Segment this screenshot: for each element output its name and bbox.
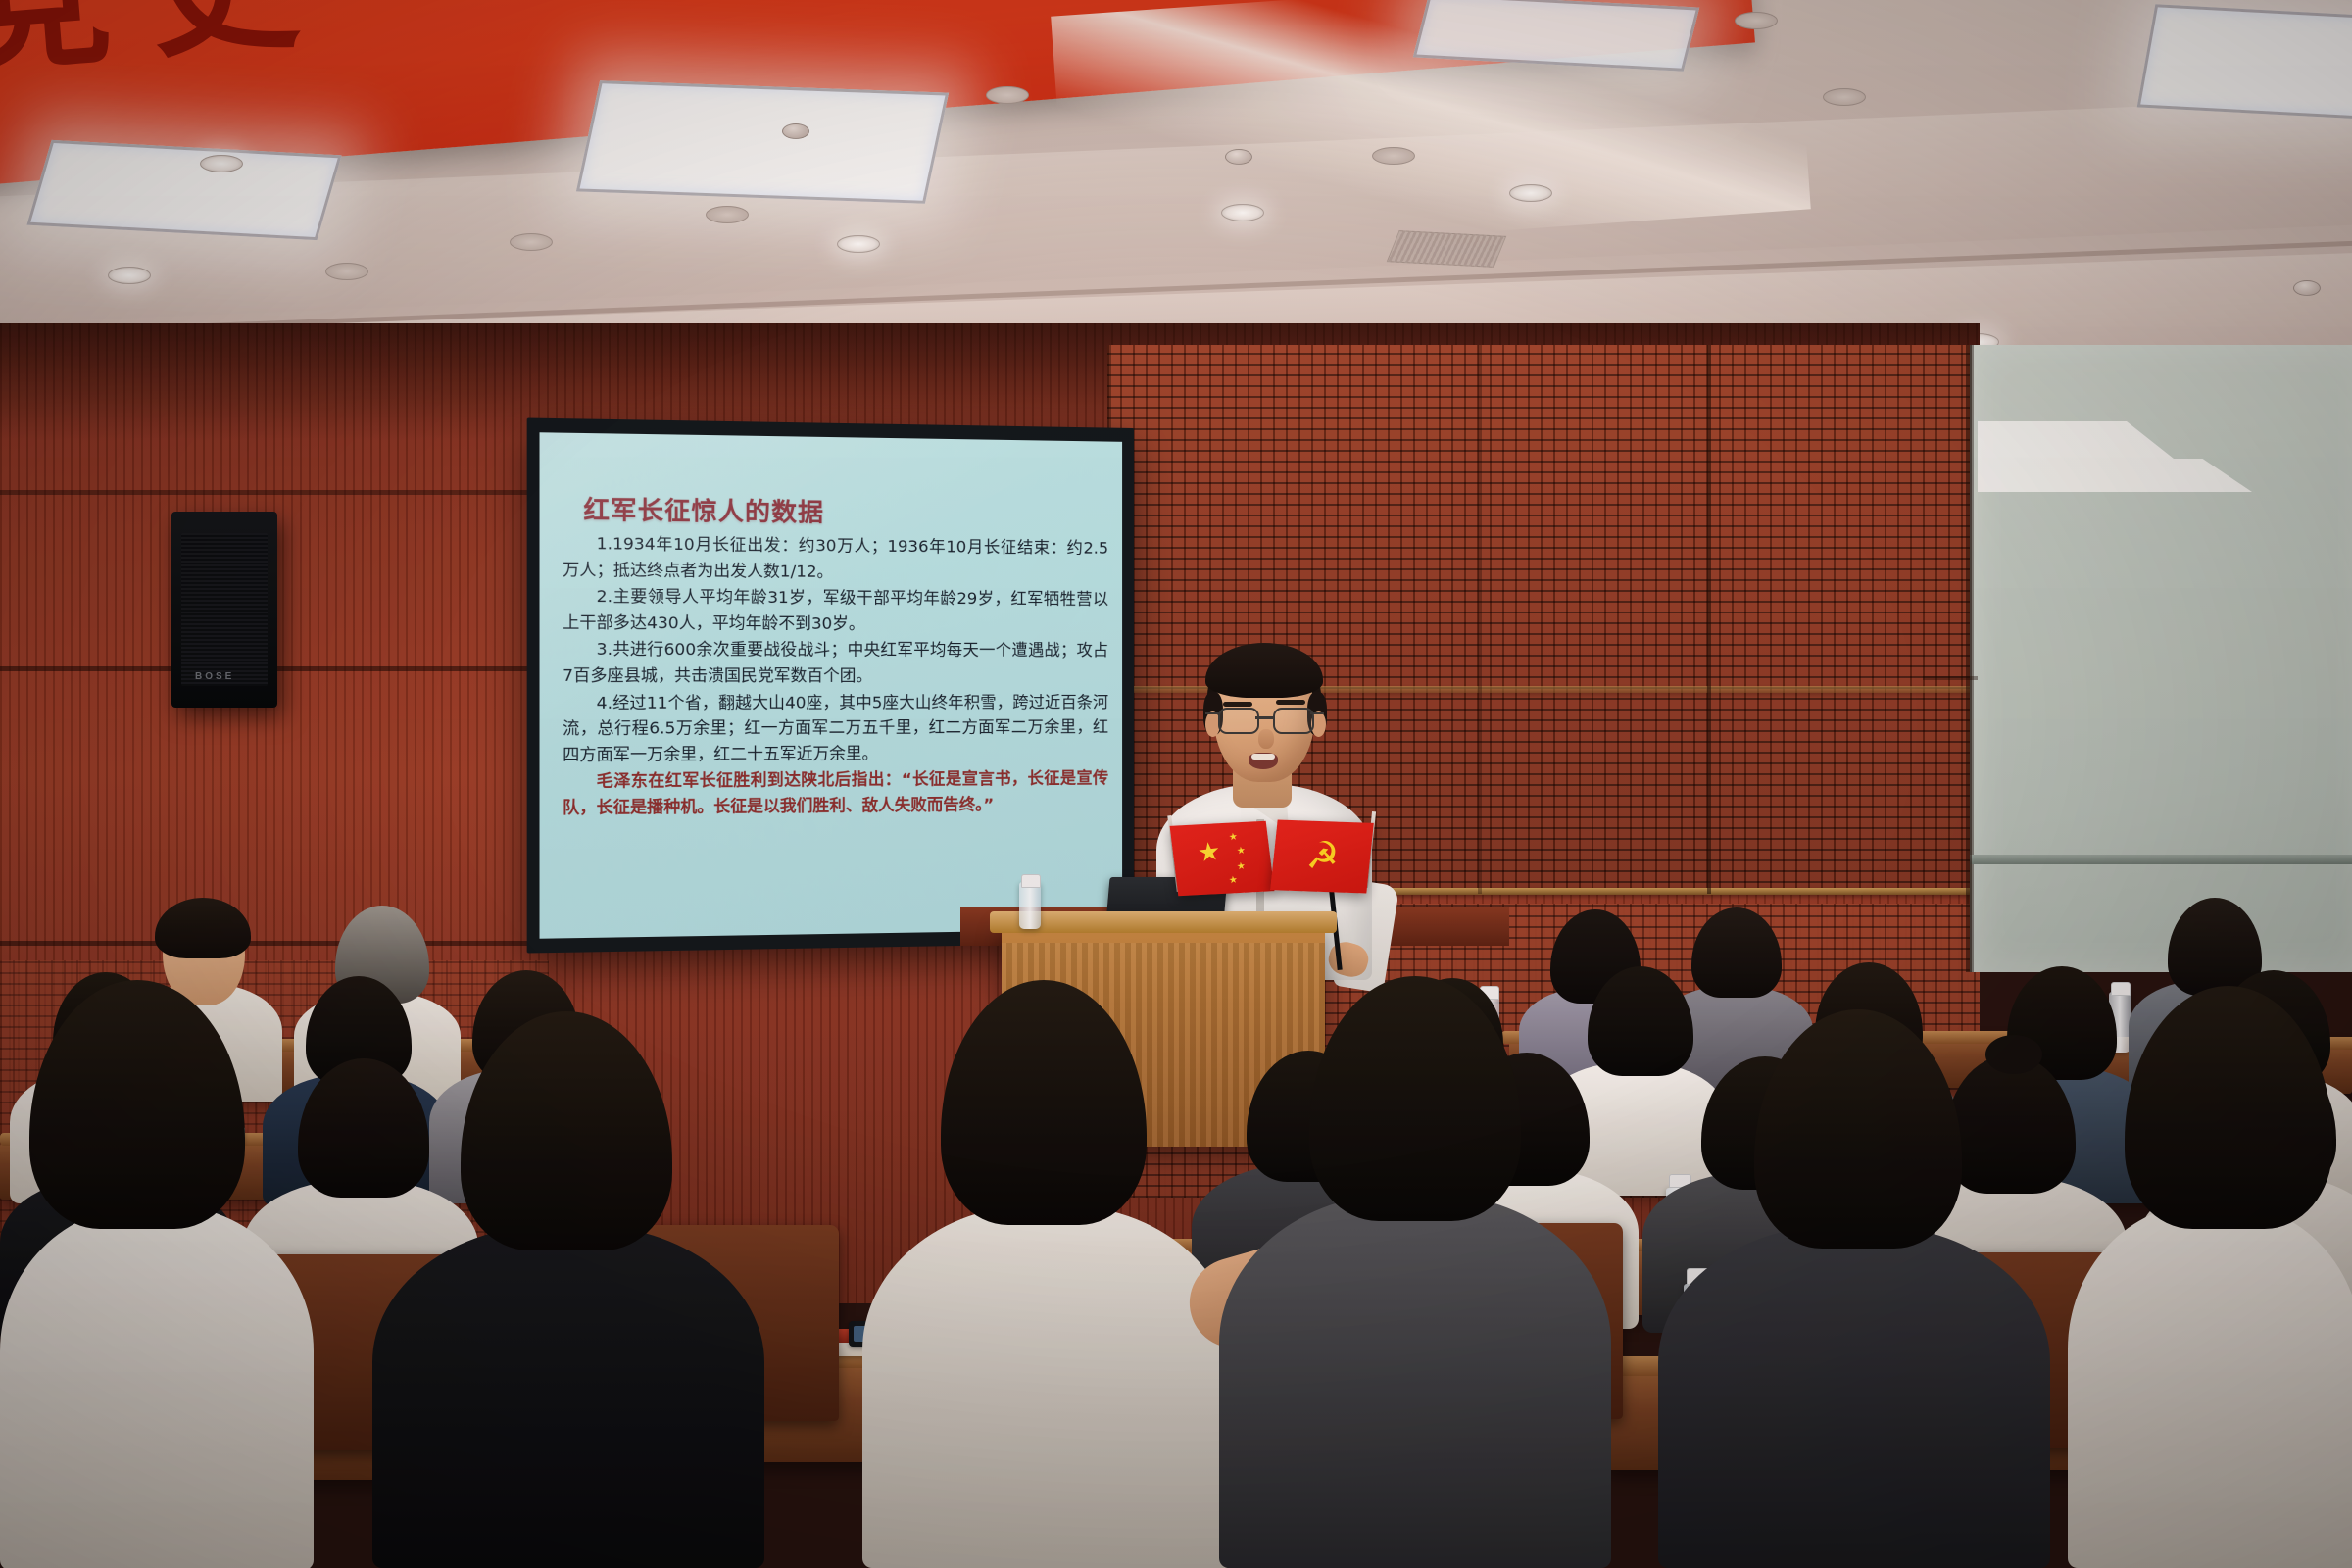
podium-top-ledge — [990, 911, 1337, 933]
wall-panel-divider — [1478, 345, 1482, 894]
recessed-downlight — [1509, 184, 1552, 202]
wall-seam — [0, 941, 588, 946]
smoke-detector-icon — [1225, 149, 1252, 165]
recessed-downlight — [1221, 204, 1264, 221]
glasses-temple-right — [1310, 712, 1324, 714]
flag-star-icon: ★ — [1236, 846, 1246, 857]
slide-paragraph: 4.经过11个省，翻越大山40座，其中5座大山终年积雪，跨过近百条河流，总行程6… — [563, 690, 1108, 768]
recessed-downlight — [1735, 12, 1778, 29]
slide-paragraph: 1.1934年10月长征出发：约30万人；1936年10月长征结束：约2.5万人… — [563, 530, 1108, 586]
recessed-downlight — [706, 206, 749, 223]
bottle-cap — [2111, 982, 2131, 996]
smoke-detector-icon — [2293, 280, 2321, 296]
recessed-downlight — [1823, 88, 1866, 106]
recessed-downlight — [325, 263, 368, 280]
speaker-teeth — [1251, 754, 1275, 759]
recessed-downlight — [986, 86, 1029, 104]
lecture-hall-photo: 党史 BOSE — [0, 0, 2352, 1568]
prc-national-flag — [1170, 821, 1275, 897]
ceiling-panel-light — [576, 80, 949, 204]
slide-paragraph: 2.主要领导人平均年龄31岁，军级干部平均年龄29岁，红军牺牲营以上干部多达43… — [563, 583, 1108, 637]
recessed-downlight — [837, 235, 880, 253]
glasses-bridge — [1255, 716, 1273, 719]
cpc-emblem-icon: ☭ — [1305, 835, 1341, 877]
speaker-grille-icon — [181, 533, 268, 686]
recessed-downlight — [510, 233, 553, 251]
ceiling-panel-light — [2137, 4, 2352, 119]
speaker-eyebrow-left — [1223, 702, 1252, 707]
wall-panel-divider — [1707, 345, 1711, 894]
flag-star-icon: ★ — [1228, 832, 1238, 843]
flag-star-icon: ★ — [1236, 861, 1246, 872]
recessed-downlight — [108, 267, 151, 284]
projection-screen: 红军长征惊人的数据 1.1934年10月长征出发：约30万人；1936年10月长… — [540, 432, 1123, 938]
water-bottle[interactable] — [1019, 882, 1041, 929]
glasses-icon — [1217, 708, 1313, 731]
ceiling-panel-light — [26, 140, 341, 240]
slide-title: 红军长征惊人的数据 — [583, 490, 824, 529]
speaker-nose — [1258, 729, 1274, 749]
wall-panel-divider — [1966, 345, 1972, 972]
recessed-downlight — [1372, 147, 1415, 165]
glasses-lens-left — [1218, 708, 1259, 734]
slide-body: 1.1934年10月长征出发：约30万人；1936年10月长征结束：约2.5万人… — [563, 530, 1108, 821]
air-vent — [1387, 230, 1507, 268]
wall-panel-divider — [1923, 676, 1978, 680]
projection-screen-frame: 红军长征惊人的数据 1.1934年10月长征出发：约30万人；1936年10月长… — [527, 417, 1134, 953]
whiteboard-marker-tray — [1970, 855, 2352, 864]
wall-speaker: BOSE — [171, 512, 277, 708]
smoke-detector-icon — [782, 123, 809, 139]
recessed-downlight — [200, 155, 243, 172]
flag-star-icon: ★ — [1197, 838, 1222, 866]
slide-quote: 毛泽东在红军长征胜利到达陕北后指出：“长征是宣言书，长征是宣传队，长征是播种机。… — [563, 765, 1108, 820]
glasses-lens-right — [1273, 708, 1314, 734]
bottle-cap — [1021, 874, 1041, 888]
speaker-eyebrow-right — [1276, 700, 1305, 705]
wall-seam — [0, 490, 549, 495]
slide-paragraph: 3.共进行600余次重要战役战斗；中央红军平均每天一个遭遇战；攻占7百多座县城，… — [563, 637, 1108, 689]
speaker-brand-label: BOSE — [195, 671, 252, 682]
glasses-temple-left — [1205, 712, 1219, 714]
flag-star-icon: ★ — [1228, 875, 1238, 886]
